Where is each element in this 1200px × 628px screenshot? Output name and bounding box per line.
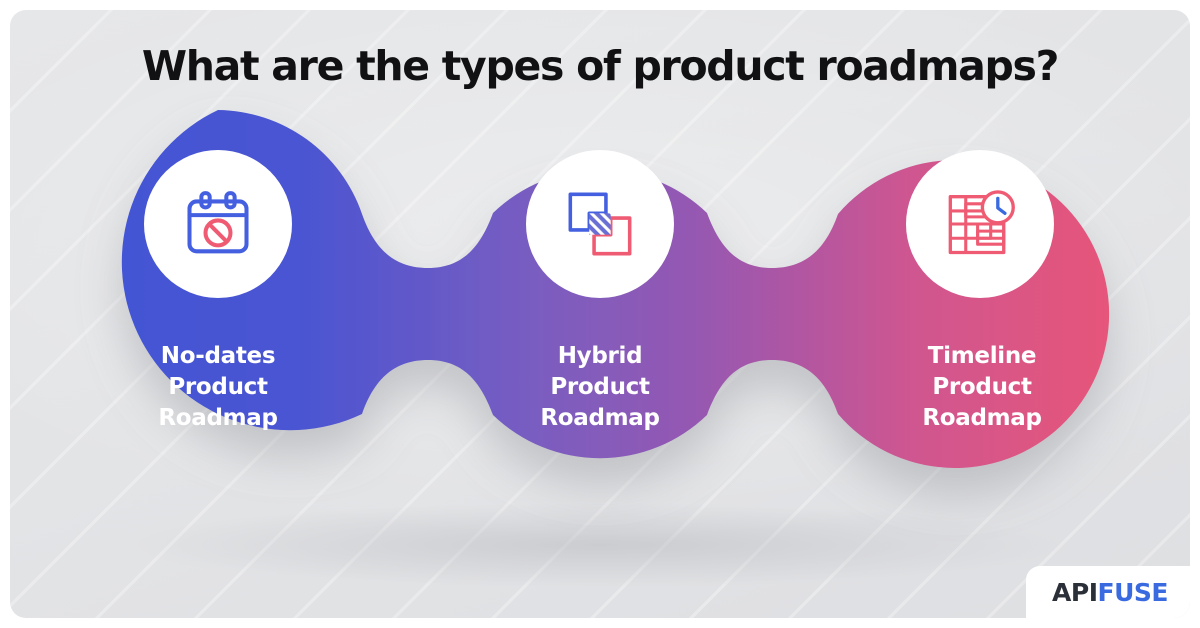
blob-label-no-dates: No-dates Product Roadmap (88, 341, 348, 434)
overlapping-squares-hybrid-icon (562, 186, 638, 262)
calendar-no-dates-icon (180, 186, 256, 262)
infographic-canvas: What are the types of product roadmaps? (0, 0, 1200, 628)
roadmap-blob-graphic (0, 0, 1200, 628)
hybrid-overlap-hatch (589, 213, 610, 234)
icon-circle-timeline (906, 150, 1054, 298)
page-title: What are the types of product roadmaps? (0, 42, 1200, 90)
gantt-chart-clock-icon (942, 186, 1018, 262)
blob-label-timeline: Timeline Product Roadmap (852, 341, 1112, 434)
brand-logo: APIFUSE (1026, 566, 1190, 618)
logo-text-fuse: FUSE (1098, 580, 1168, 605)
icon-circle-no-dates (144, 150, 292, 298)
icon-circle-hybrid (526, 150, 674, 298)
blob-ground-shadow (130, 503, 1070, 587)
blob-label-hybrid: Hybrid Product Roadmap (470, 341, 730, 434)
logo-text-api: API (1052, 580, 1097, 605)
